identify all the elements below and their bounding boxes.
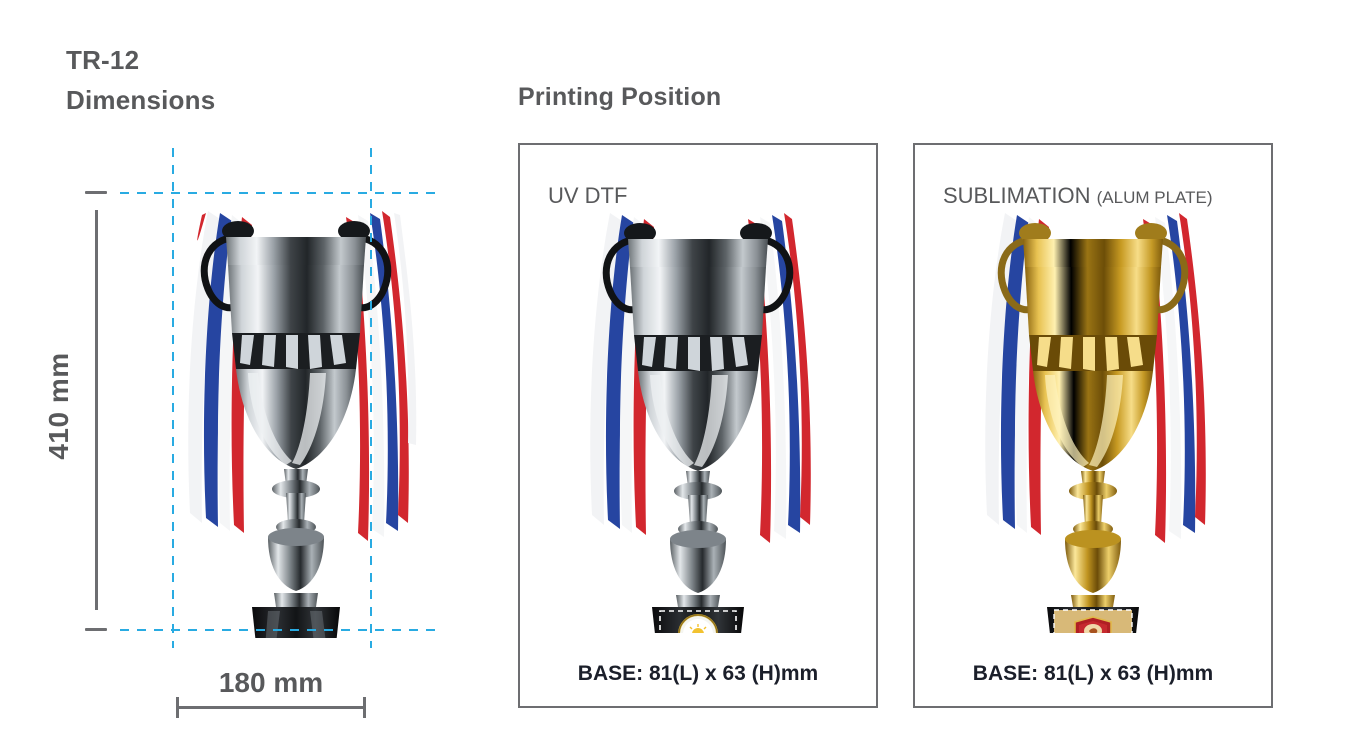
width-bar — [176, 706, 366, 709]
guide-line-right — [370, 148, 372, 648]
width-label: 180 mm — [176, 667, 366, 699]
trophy-image-dimensions — [150, 193, 442, 638]
width-dimension-line — [176, 697, 366, 717]
height-tick-bottom — [85, 628, 107, 631]
guide-line-left — [172, 148, 174, 648]
panel-uv-dtf-caption: BASE: 81(L) x 63 (H)mm — [520, 662, 876, 686]
panel-sublimation: SUBLIMATION (ALUM PLATE) — [913, 143, 1273, 708]
height-dimension-line — [95, 210, 98, 610]
trophy-image-sublimation — [943, 193, 1243, 633]
guide-line-bottom — [120, 629, 438, 631]
dimensions-block: 410 mm 180 mm — [0, 0, 470, 750]
panel-uv-dtf: UV DTF — [518, 143, 878, 708]
height-label: 410 mm — [43, 306, 75, 506]
guide-line-top — [120, 192, 438, 194]
printing-position-title: Printing Position — [518, 83, 721, 112]
height-tick-top — [85, 191, 107, 194]
panel-sublimation-caption: BASE: 81(L) x 63 (H)mm — [915, 662, 1271, 686]
width-cap-right — [363, 697, 366, 718]
trophy-image-uv-dtf — [548, 193, 848, 633]
